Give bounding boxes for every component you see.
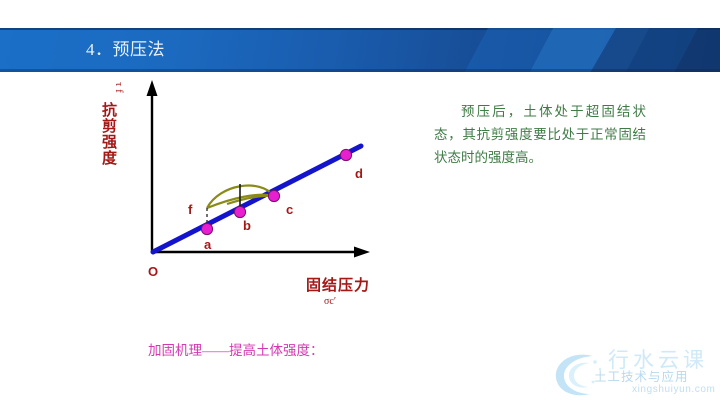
x-axis [152, 247, 370, 258]
slide-title: 4．预压法 [86, 28, 165, 72]
bottom-caption: 加固机理——提高土体强度： [148, 339, 324, 359]
data-point-b[interactable] [234, 206, 245, 217]
point-label-c: c [286, 202, 293, 217]
shear-strength-chart: 抗剪强度 τ f 固结压力 σc′ O a b c d f [100, 80, 420, 330]
point-label-f: f [188, 202, 192, 217]
watermark-subtitle: 土工技术与应用 [594, 366, 689, 385]
y-axis-symbol: τ f [113, 82, 125, 93]
header-banner: 4．预压法 [0, 28, 720, 72]
data-point-d[interactable] [340, 149, 351, 160]
chart-canvas [100, 80, 420, 330]
x-axis-title: 固结压力 [306, 274, 370, 295]
y-axis-title: 抗剪强度 [98, 102, 119, 166]
normal-consolidation-line [153, 146, 361, 252]
data-point-c[interactable] [268, 190, 279, 201]
point-label-a: a [204, 237, 211, 252]
origin-label: O [148, 264, 158, 279]
explanation-text: 预压后，土体处于超固结状态，其抗剪强度要比处于正常固结状态时的强度高。 [434, 100, 646, 169]
y-axis [147, 80, 158, 252]
point-label-d: d [355, 166, 363, 181]
watermark-url: xingshuiyun.com [632, 384, 715, 395]
x-axis-symbol: σc′ [324, 296, 336, 307]
watermark: 行水云课 土工技术与应用 xingshuiyun.com [548, 342, 720, 402]
point-label-b: b [243, 218, 251, 233]
data-point-a[interactable] [201, 223, 212, 234]
